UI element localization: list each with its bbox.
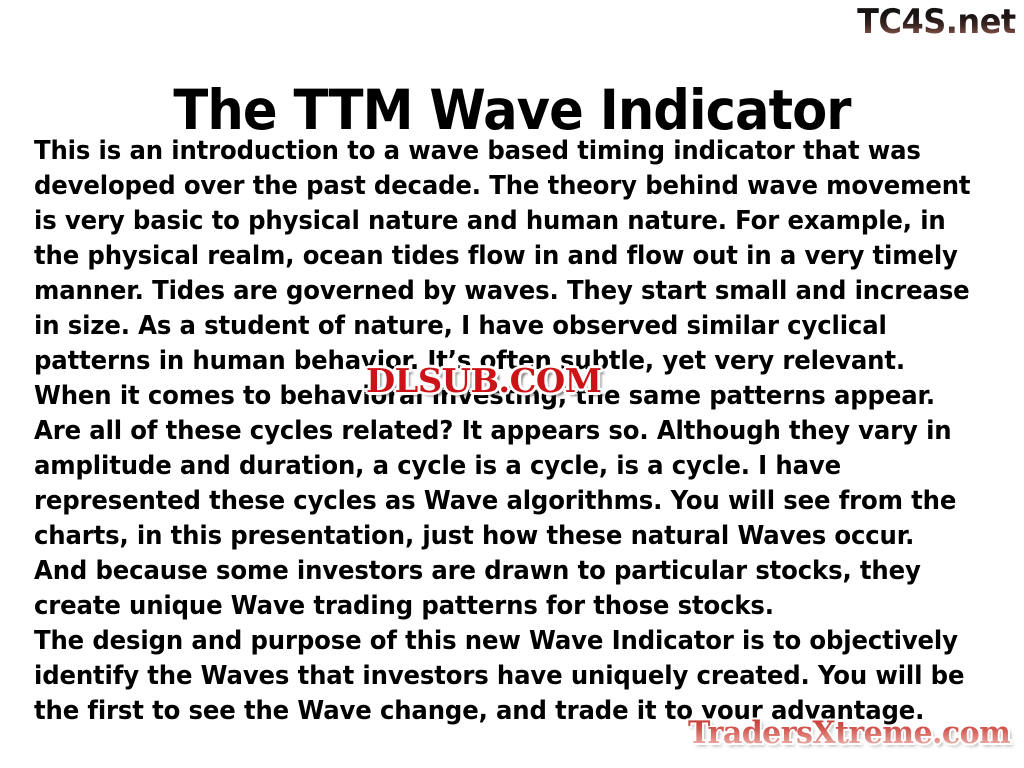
body-line: represented these cycles as Wave algorit… [34,484,953,519]
body-line: charts, in this presentation, just how t… [34,519,953,554]
slide-title: The TTM Wave Indicator [36,78,988,142]
body-line: developed over the past decade. The theo… [34,169,953,204]
presentation-slide: TC4S.net The TTM Wave Indicator This is … [0,0,1024,768]
body-line: identify the Waves that investors have u… [34,659,953,694]
tradersxtreme-logo-text: TradersXtreme.com [688,715,1010,751]
body-line: manner. Tides are governed by waves. The… [34,274,953,309]
body-line: And because some investors are drawn to … [34,554,953,589]
body-line: is very basic to physical nature and hum… [34,204,953,239]
body-line: amplitude and duration, a cycle is a cyc… [34,449,953,484]
tradersxtreme-logo: TradersXtreme.com TradersXtreme.com [678,712,1010,760]
body-line: The design and purpose of this new Wave … [34,624,953,659]
body-line: the physical realm, ocean tides flow in … [34,239,953,274]
body-line: This is an introduction to a wave based … [34,134,953,169]
slide-body-text: This is an introduction to a wave based … [34,134,996,729]
body-line: in size. As a student of nature, I have … [34,309,953,344]
body-line: Are all of these cycles related? It appe… [34,414,953,449]
tc4s-logo: TC4S.net [857,2,1016,42]
dlsub-watermark: DLSUB.COM [366,361,601,401]
body-line: create unique Wave trading patterns for … [34,589,953,624]
